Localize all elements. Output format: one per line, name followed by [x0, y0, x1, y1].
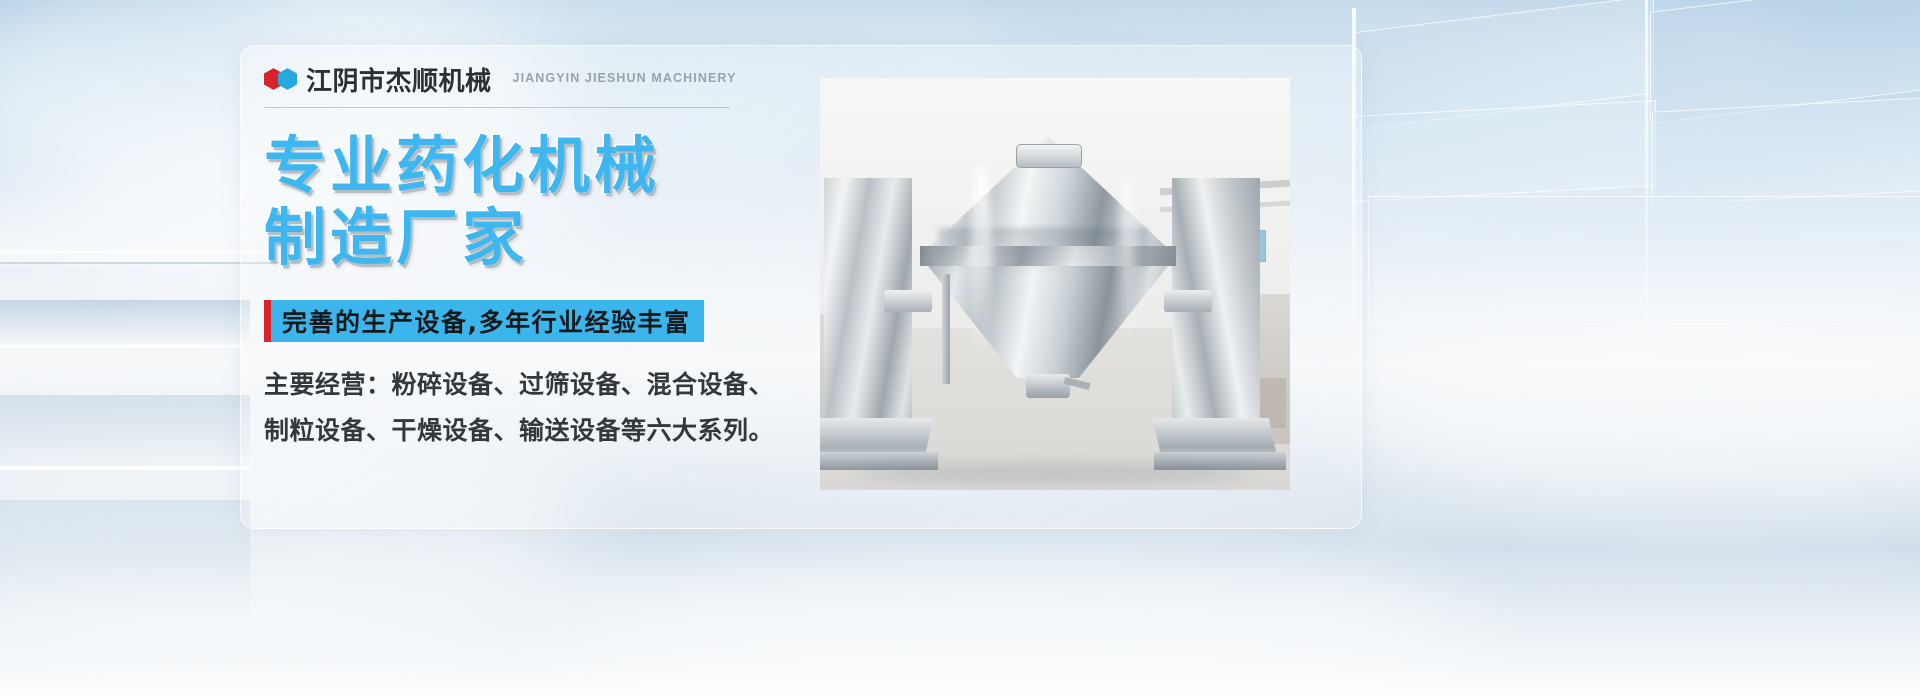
tagline-bar: 完善的生产设备,多年行业经验丰富: [264, 300, 704, 342]
product-photo: [820, 78, 1290, 490]
machine-hatch: [1016, 144, 1082, 168]
description-line-1: 主要经营：粉碎设备、过筛设备、混合设备、: [264, 368, 784, 402]
machine-frame-right: [1172, 178, 1260, 448]
machine-frame-left: [824, 178, 912, 448]
machine-shadow: [860, 462, 1250, 484]
headline-line-2: 制造厂家: [264, 202, 784, 274]
brand-name-cn: 江阴市杰顺机械: [306, 61, 492, 98]
description-line-2: 制粒设备、干燥设备、输送设备等六大系列。: [264, 414, 784, 448]
machine-shaft-left: [884, 290, 932, 312]
glass-edge: [1645, 0, 1648, 330]
machine-discharge-valve: [1026, 374, 1070, 398]
glass-pane: [1652, 96, 1920, 205]
headline-block: 专业药化机械 制造厂家: [264, 130, 784, 274]
logo-divider: [264, 107, 730, 108]
horizon-band: [0, 395, 250, 465]
brand-name-en: JIANGYIN JIESHUN MACHINERY: [513, 71, 737, 87]
banner-content: 江阴市杰顺机械 JIANGYIN JIESHUN MACHINERY 专业药化机…: [264, 62, 784, 459]
machine-highlight: [1120, 174, 1134, 344]
machine-shaft-right: [1164, 290, 1212, 312]
horizon-band: [0, 500, 250, 620]
machine-pipe: [942, 274, 950, 384]
glass-pane: [1368, 196, 1920, 324]
horizon-band: [0, 345, 245, 348]
brand-logo[interactable]: 江阴市杰顺机械 JIANGYIN JIESHUN MACHINERY: [264, 62, 784, 96]
horizon-band: [0, 466, 250, 470]
glass-pane: [1352, 100, 1656, 202]
hexagon-blue-icon: [278, 68, 297, 90]
headline-line-1: 专业药化机械: [264, 130, 784, 202]
promo-banner: 江阴市杰顺机械 JIANGYIN JIESHUN MACHINERY 专业药化机…: [0, 0, 1920, 700]
hexagon-logo-icon: [264, 68, 297, 90]
description-block: 主要经营：粉碎设备、过筛设备、混合设备、 制粒设备、干燥设备、输送设备等六大系列…: [264, 368, 784, 448]
machine-highlight: [970, 164, 992, 354]
horizon-band: [0, 300, 250, 344]
tagline-text: 完善的生产设备,多年行业经验丰富: [282, 303, 691, 339]
